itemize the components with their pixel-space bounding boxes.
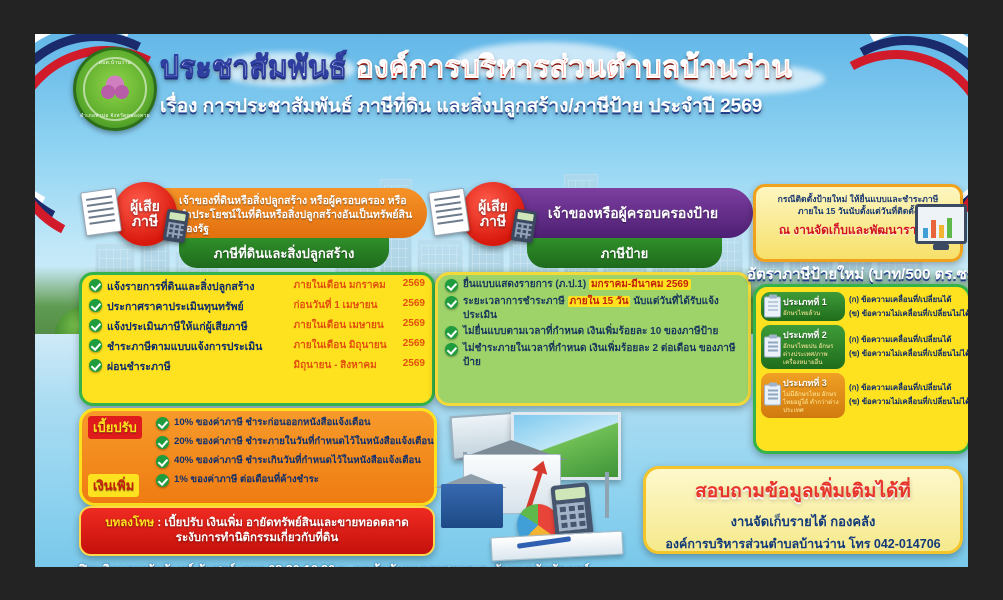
penalty-text: 1% ของค่าภาษี ต่อเดือนที่ค้างชำระ	[174, 472, 319, 487]
rule-row: ระยะเวลาการชำระภาษี ภายใน 15 วัน นับแต่ว…	[438, 295, 748, 322]
rate-item-text: (ก) ข้อความเคลื่อนที่/เปลี่ยนได้	[849, 334, 968, 346]
rate-item-text: (ข) ข้อความไม่เคลื่อนที่/เปลี่ยนไม่ได้	[849, 308, 968, 320]
ledger-book-icon	[490, 531, 623, 562]
document-icon	[80, 188, 122, 237]
schedule-year: 2569	[403, 298, 425, 309]
logo-top-text: อบต.บ้านว่าน	[76, 59, 154, 67]
check-icon	[445, 279, 458, 292]
schedule-label: ประกาศราคาประเมินทุนทรัพย์	[107, 298, 289, 315]
schedule-row: แจ้งประเมินภาษีให้แก่ผู้เสียภาษี ภายในเด…	[82, 318, 432, 335]
surcharge-tag: เงินเพิ่ม	[88, 474, 139, 497]
penalty-box: เบี้ยปรับ เงินเพิ่ม 10% ของค่าภาษี ชำระก…	[79, 408, 437, 506]
clipboard-icon	[764, 296, 781, 317]
check-icon	[89, 339, 102, 352]
schedule-period: ภายในเดือน เมษายน	[294, 318, 398, 333]
logo-bottom-text: อำเภอท่าบ่อ จังหวัดหนองคาย	[76, 112, 154, 120]
category-title: ประเภทที่ 3	[783, 376, 842, 390]
rate-table-header: อัตราภาษีป้ายใหม่ (บาท/500 ตร.ซม.)	[747, 262, 968, 286]
penalty-text: 10% ของค่าภาษี ชำระก่อนออกหนังสือแจ้งเตื…	[174, 415, 371, 430]
rule-row: ยื่นแบบแสดงรายการ (ภ.ป.1) มกราคม-มีนาคม …	[438, 278, 748, 292]
organization-logo: อบต.บ้านว่าน อำเภอท่าบ่อ จังหวัดหนองคาย	[73, 47, 157, 131]
check-icon	[445, 296, 458, 309]
schedule-row: ผ่อนชำระภาษี มิถุนายน - สิงหาคม 2569	[82, 358, 432, 375]
schedule-period: ก่อนวันที่ 1 เมษายน	[294, 298, 398, 313]
contact-heading: สอบถามข้อมูลเพิ่มเติมได้ที่	[646, 476, 960, 506]
category-subtitle: อักษรไทยปน อักษรต่างประเทศ/ภาพ เครื่องหม…	[783, 343, 842, 366]
check-icon	[89, 299, 102, 312]
rate-item-text: (ก) ข้อความเคลื่อนที่/เปลี่ยนได้	[849, 294, 968, 306]
signboard-tax-rules-panel: ยื่นแบบแสดงรายการ (ภ.ป.1) มกราคม-มีนาคม …	[435, 272, 751, 406]
rule-text: ไม่ยื่นแบบตามเวลาที่กำหนด เงินเพิ่มร้อยล…	[463, 325, 718, 339]
clipboard-icon	[764, 337, 781, 358]
calculator-icon	[550, 482, 593, 538]
rate-category: ประเภทที่ 3 ไม่มีอักษรไทย อักษรไทยอยู่ใต…	[761, 373, 845, 417]
document-icon	[428, 188, 470, 237]
payer-banner-signboard: เจ้าของหรือผู้ครอบครองป้าย ภาษีป้าย ผู้เ…	[427, 182, 767, 268]
category-title: ประเภทที่ 2	[783, 328, 842, 342]
check-icon	[156, 455, 169, 468]
payer-badge-line1: ผู้เสีย	[478, 199, 508, 214]
tax-type-label: ภาษีป้าย	[527, 238, 722, 268]
category-subtitle: อักษรไทยล้วน	[783, 310, 842, 318]
check-icon	[445, 326, 458, 339]
rule-row: ไม่ชำระภายในเวลาที่กำหนด เงินเพิ่มร้อยละ…	[438, 342, 748, 369]
schedule-year: 2569	[403, 278, 425, 289]
rate-category: ประเภทที่ 1 อักษรไทยล้วน	[761, 292, 845, 321]
rule-row: ไม่ยื่นแบบตามเวลาที่กำหนด เงินเพิ่มร้อยล…	[438, 325, 748, 339]
tax-type-label: ภาษีที่ดินและสิ่งปลูกสร้าง	[179, 238, 389, 268]
rule-text: ยื่นแบบแสดงรายการ (ภ.ป.1) มกราคม-มีนาคม …	[463, 278, 691, 292]
schedule-year: 2569	[403, 358, 425, 369]
fine-tag: เบี้ยปรับ	[88, 416, 142, 439]
schedule-label: แจ้งประเมินภาษีให้แก่ผู้เสียภาษี	[107, 318, 289, 335]
payer-banner-land: เจ้าของที่ดินหรือสิ่งปลูกสร้าง หรือผู้คร…	[79, 182, 439, 268]
check-icon	[156, 417, 169, 430]
schedule-label: ผ่อนชำระภาษี	[107, 358, 289, 375]
house2-icon	[441, 484, 503, 528]
penalty-text: 40% ของค่าภาษี ชำระเกินวันที่กำหนดไว้ในห…	[174, 453, 421, 468]
check-icon	[156, 474, 169, 487]
schedule-row: แจ้งรายการที่ดินและสิ่งปลูกสร้าง ภายในเด…	[82, 278, 432, 295]
clipboard-icon	[764, 385, 781, 406]
schedule-period: ภายในเดือน มิถุนายน	[294, 338, 398, 353]
penalty-row: 40% ของค่าภาษี ชำระเกินวันที่กำหนดไว้ในห…	[82, 453, 434, 468]
payer-description: เจ้าของหรือผู้ครอบครองป้าย	[527, 195, 739, 231]
payer-badge-line2: ภาษี	[132, 214, 158, 229]
rate-item-text: (ข) ข้อความไม่เคลื่อนที่/เปลี่ยนไม่ได้	[849, 396, 968, 408]
schedule-row: ประกาศราคาประเมินทุนทรัพย์ ก่อนวันที่ 1 …	[82, 298, 432, 315]
page-subtitle: เรื่อง การประชาสัมพันธ์ ภาษีที่ดิน และสิ…	[160, 91, 900, 121]
schedule-period: ภายในเดือน มกราคม	[294, 278, 398, 293]
penalty-text: 20% ของค่าภาษี ชำระภายในวันที่กำหนดไว้ใน…	[174, 434, 434, 449]
criminal-penalty-text: บทลงโทษ : เบี้ยปรับ เงินเพิ่ม อายัดทรัพย…	[105, 516, 408, 546]
payer-description: เจ้าของที่ดินหรือสิ่งปลูกสร้าง หรือผู้คร…	[179, 195, 413, 237]
signboard-rate-table: ประเภทที่ 1 อักษรไทยล้วน (ก) ข้อความเคลื…	[753, 284, 968, 454]
check-icon	[89, 319, 102, 332]
schedule-label: แจ้งรายการที่ดินและสิ่งปลูกสร้าง	[107, 278, 289, 295]
criminal-tag: บทลงโทษ	[105, 517, 154, 529]
category-title: ประเภทที่ 1	[783, 295, 842, 309]
rule-text: ระยะเวลาการชำระภาษี ภายใน 15 วัน นับแต่ว…	[463, 295, 741, 322]
contact-box: สอบถามข้อมูลเพิ่มเติมได้ที่ งานจัดเก็บรา…	[643, 466, 963, 554]
rate-category: ประเภทที่ 2 อักษรไทยปน อักษรต่างประเทศ/ภ…	[761, 325, 845, 369]
poster-stage: อบต.บ้านว่าน อำเภอท่าบ่อ จังหวัดหนองคาย …	[0, 0, 1003, 600]
contact-department: งานจัดเก็บรายได้ กองคลัง	[646, 511, 960, 532]
payer-badge-line2: ภาษี	[480, 214, 506, 229]
rate-row: ประเภทที่ 1 อักษรไทยล้วน (ก) ข้อความเคลื…	[761, 292, 963, 321]
check-icon	[156, 436, 169, 449]
criminal-penalty-box: บทลงโทษ : เบี้ยปรับ เงินเพิ่ม อายัดทรัพย…	[79, 506, 435, 556]
land-tax-schedule-panel: แจ้งรายการที่ดินและสิ่งปลูกสร้าง ภายในเด…	[79, 272, 435, 406]
rate-descriptions: (ก) ข้อความเคลื่อนที่/เปลี่ยนได้ (ข) ข้อ…	[849, 292, 968, 321]
category-subtitle: ไม่มีอักษรไทย อักษรไทยอยู่ใต้ ต่ำกว่าต่า…	[783, 391, 842, 414]
rate-descriptions: (ก) ข้อความเคลื่อนที่/เปลี่ยนได้ (ข) ข้อ…	[849, 373, 968, 417]
check-icon	[89, 279, 102, 292]
title-part-white: ประชาสัมพันธ์	[160, 51, 356, 84]
poster-canvas: อบต.บ้านว่าน อำเภอท่าบ่อ จังหวัดหนองคาย …	[35, 34, 968, 567]
schedule-row: ชำระภาษีตามแบบแจ้งการประเมิน ภายในเดือน …	[82, 338, 432, 355]
contact-organization-phone: องค์การบริหารส่วนตำบลบ้านว่าน โทร 042-01…	[646, 534, 960, 554]
check-icon	[89, 359, 102, 372]
rate-descriptions: (ก) ข้อความเคลื่อนที่/เปลี่ยนได้ (ข) ข้อ…	[849, 325, 968, 369]
rate-item-text: (ก) ข้อความเคลื่อนที่/เปลี่ยนได้	[849, 382, 968, 394]
schedule-label: ชำระภาษีตามแบบแจ้งการประเมิน	[107, 338, 289, 355]
page-title: ประชาสัมพันธ์ องค์การบริหารส่วนตำบลบ้านว…	[160, 52, 860, 84]
logo-emblem-icon	[98, 74, 132, 104]
monitor-chart-icon	[915, 204, 967, 244]
rate-row: ประเภทที่ 2 อักษรไทยปน อักษรต่างประเทศ/ภ…	[761, 325, 963, 369]
rate-row: ประเภทที่ 3 ไม่มีอักษรไทย อักษรไทยอยู่ใต…	[761, 373, 963, 417]
title-part-red: องค์การบริหารส่วนตำบลบ้านว่าน	[356, 51, 792, 84]
payer-badge-line1: ผู้เสีย	[130, 199, 160, 214]
check-icon	[445, 343, 458, 356]
rule-text: ไม่ชำระภายในเวลาที่กำหนด เงินเพิ่มร้อยละ…	[463, 342, 741, 369]
schedule-year: 2569	[403, 338, 425, 349]
schedule-year: 2569	[403, 318, 425, 329]
schedule-period: มิถุนายน - สิงหาคม	[294, 358, 398, 373]
rate-item-text: (ข) ข้อความไม่เคลื่อนที่/เปลี่ยนไม่ได้	[849, 348, 968, 360]
